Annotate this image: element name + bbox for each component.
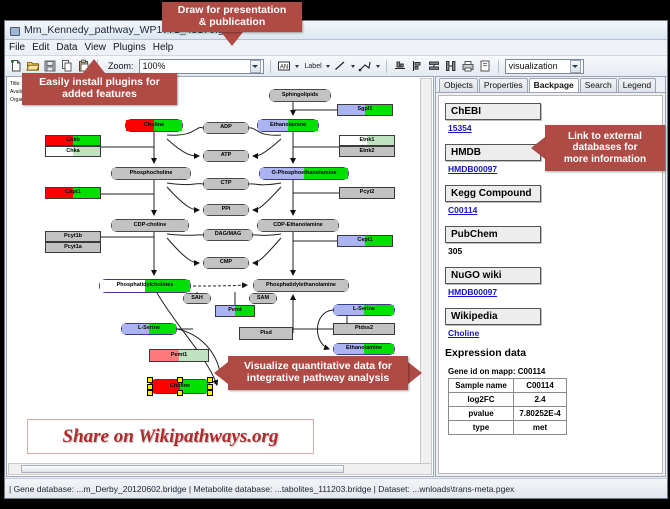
- screenshot-root: Mm_Kennedy_pathway_WP1771_45176.gpml Fil…: [0, 0, 670, 509]
- status-text: | Gene database: ...m_Derby_20120602.bri…: [9, 484, 514, 494]
- metabolite-node-ppi[interactable]: PPi: [203, 204, 249, 216]
- zoom-value: 100%: [143, 61, 166, 71]
- menu-item-edit[interactable]: Edit: [32, 42, 49, 53]
- gene-node-sgpl1[interactable]: Sgpl1: [337, 104, 393, 116]
- pathvisio-app-icon: [9, 25, 20, 36]
- node-label: Phosphatidylethanolamine: [266, 283, 336, 289]
- callout-draw-line2: & publication: [199, 17, 266, 29]
- tab-legend[interactable]: Legend: [618, 78, 656, 92]
- callout-draw-arrow-down: [221, 32, 243, 46]
- tab-objects[interactable]: Objects: [439, 78, 478, 92]
- save-icon[interactable]: [43, 59, 57, 73]
- table-row: pvalue 7.80252E-4: [449, 407, 567, 421]
- menu-item-view[interactable]: View: [84, 42, 106, 53]
- visualization-chevron-down-icon[interactable]: [570, 60, 581, 73]
- chevron-down-icon[interactable]: [250, 60, 261, 73]
- callout-visualize-line2: integrative pathway analysis: [247, 373, 389, 385]
- metabolite-node-cdp-choline[interactable]: CDP-choline: [111, 219, 189, 232]
- node-label: CDP-Ethanolamine: [273, 223, 323, 229]
- node-label: Pcyt1b: [64, 234, 82, 240]
- selection-handle[interactable]: [147, 384, 153, 390]
- node-label: Pcyt2: [360, 190, 375, 196]
- selection-handle[interactable]: [147, 377, 153, 383]
- interaction-chevron-down-icon[interactable]: [376, 65, 380, 68]
- expr-key-type: type: [449, 421, 514, 435]
- callout-links-line2: databases for: [572, 142, 637, 153]
- zoom-combo[interactable]: 100%: [139, 59, 264, 74]
- node-label: Choline: [144, 123, 164, 129]
- node-label: Phosphatidylcholines: [117, 283, 174, 289]
- db-header-kegg-compound: Kegg Compound: [445, 185, 541, 202]
- metabolite-node-phosphatidylcholines[interactable]: Phosphatidylcholines: [99, 279, 191, 293]
- node-label: Choline: [170, 384, 190, 390]
- selection-handle[interactable]: [207, 384, 213, 390]
- stack-horizontal-icon[interactable]: [444, 59, 458, 73]
- metabolite-node-adp[interactable]: ADP: [203, 122, 249, 134]
- node-label: Ethanolamine: [270, 123, 306, 129]
- expression-table: Sample name C00114 log2FC 2.4 pvalue 7.8…: [448, 378, 567, 435]
- menu-bar: File Edit Data View Plugins Help: [5, 40, 667, 56]
- toolbar-separator-2: [270, 60, 271, 73]
- align-top-icon[interactable]: [393, 59, 407, 73]
- callout-visualize-arrow-right: [408, 362, 422, 384]
- selection-handle[interactable]: [207, 390, 213, 396]
- share-banner-text: Share on Wikipathways.org: [63, 426, 279, 448]
- node-label: DAG/MAG: [215, 232, 242, 238]
- label-tool-label[interactable]: Label: [305, 63, 322, 70]
- menu-item-data[interactable]: Data: [56, 42, 77, 53]
- callout-links-line3: more information: [564, 154, 646, 165]
- gene-node-chkb[interactable]: Chkb: [45, 135, 101, 146]
- node-label: Pemt1: [171, 353, 188, 359]
- node-label: Ptdss2: [355, 326, 373, 332]
- label-chevron-down-icon[interactable]: [326, 65, 330, 68]
- visualization-combo[interactable]: visualization: [505, 59, 584, 74]
- gene-node-pemt[interactable]: Pemt: [215, 305, 255, 317]
- side-panel-tabs: Objects Properties Backpage Search Legen…: [436, 77, 665, 93]
- expr-value-log2fc: 2.4: [514, 393, 567, 407]
- gene-node-pcyt1a[interactable]: Pcyt1a: [45, 242, 101, 253]
- gene-id-on-mapp: Gene id on mapp: C00114: [448, 367, 656, 376]
- title-bar: Mm_Kennedy_pathway_WP1771_45176.gpml: [5, 21, 667, 40]
- metabolite-node-cdp-ethanolamine[interactable]: CDP-Ethanolamine: [257, 219, 339, 232]
- db-value-pubchem: 305: [448, 246, 656, 256]
- metabolite-node-atp[interactable]: ATP: [203, 150, 249, 162]
- expr-value-type: met: [514, 421, 567, 435]
- node-label: Etnk2: [360, 149, 375, 155]
- expr-value-sample-name: C00114: [514, 379, 567, 393]
- gene-node-etnk1[interactable]: Etnk1: [339, 135, 395, 146]
- selection-handle[interactable]: [147, 390, 153, 396]
- node-label: ATP: [221, 153, 232, 159]
- node-label: CDP-choline: [134, 223, 167, 229]
- node-label: Pisd: [260, 331, 272, 337]
- tab-properties[interactable]: Properties: [479, 78, 528, 92]
- gene-node-pcyt1b[interactable]: Pcyt1b: [45, 231, 101, 242]
- table-row: type met: [449, 421, 567, 435]
- metabolite-node-cmp[interactable]: CMP: [203, 257, 249, 269]
- node-label: SAM: [257, 296, 269, 302]
- metabolite-node-l-serine-left[interactable]: L-Serine: [121, 323, 177, 335]
- node-label: Chkb: [66, 138, 80, 144]
- gene-node-pcyt2[interactable]: Pcyt2: [339, 187, 395, 199]
- menu-item-plugins[interactable]: Plugins: [113, 42, 146, 53]
- svg-text:AN: AN: [279, 64, 287, 70]
- node-label: Etnk1: [360, 138, 375, 144]
- node-label: ADP: [220, 125, 232, 131]
- node-label: Pemt: [228, 308, 241, 314]
- metabolite-node-l-serine-right[interactable]: L-Serine: [333, 304, 395, 316]
- node-label: L-Serine: [353, 307, 375, 313]
- callout-links-line1: Link to external: [568, 131, 642, 142]
- db-header-chebi: ChEBI: [445, 103, 541, 120]
- callout-draw-for-presentation: Draw for presentation & publication: [162, 2, 302, 32]
- table-row: log2FC 2.4: [449, 393, 567, 407]
- node-label: CTP: [221, 181, 232, 187]
- metabolite-node-sah[interactable]: SAH: [183, 293, 211, 304]
- expr-key-log2fc: log2FC: [449, 393, 514, 407]
- page-setup-icon[interactable]: [478, 59, 492, 73]
- metabolite-node-choline-selected[interactable]: Choline: [149, 379, 211, 394]
- node-label: Chpt1: [65, 190, 81, 196]
- node-label: PPi: [222, 207, 231, 213]
- share-on-wikipathways-banner: Share on Wikipathways.org: [27, 419, 314, 454]
- expr-value-pvalue: 7.80252E-4: [514, 407, 567, 421]
- print-icon[interactable]: [461, 59, 475, 73]
- db-link-kegg-compound[interactable]: C00114: [448, 205, 656, 215]
- gene-node-ptdss2[interactable]: Ptdss2: [333, 323, 395, 335]
- datanode-icon[interactable]: AN: [277, 59, 291, 73]
- node-label: Sgpl1: [358, 107, 373, 113]
- metabolite-node-phosphatidylethanolamine[interactable]: Phosphatidylethanolamine: [253, 279, 349, 292]
- db-link-wikipedia[interactable]: Choline: [448, 328, 656, 338]
- toolbar-separator-3: [386, 60, 387, 73]
- node-label: Pcyt1a: [64, 245, 82, 251]
- menu-item-file[interactable]: File: [9, 42, 25, 53]
- db-header-hmdb: HMDB: [445, 144, 541, 161]
- metabolite-node-choline-top[interactable]: Choline: [125, 119, 183, 132]
- node-label: L-Serine: [138, 326, 160, 332]
- gene-node-chka[interactable]: Chka: [45, 146, 101, 157]
- tab-search[interactable]: Search: [580, 78, 617, 92]
- node-label: CMP: [220, 260, 232, 266]
- gene-node-pisd[interactable]: Pisd: [239, 327, 293, 340]
- expression-data-heading: Expression data: [445, 347, 656, 359]
- pathway-drawing: Title: Availa Organ: [7, 77, 433, 477]
- gene-node-cept1[interactable]: Cept1: [337, 235, 393, 247]
- align-left-icon[interactable]: [410, 59, 424, 73]
- node-label: O-Phosphoethanolamine: [271, 171, 336, 177]
- datanode-chevron-down-icon[interactable]: [295, 65, 299, 68]
- metabolite-node-sam[interactable]: SAM: [249, 293, 277, 304]
- interaction-tool-icon[interactable]: [358, 59, 372, 73]
- callout-link-external-databases: Link to external databases for more info…: [545, 125, 665, 171]
- db-header-nugo-wiki: NuGO wiki: [445, 267, 541, 284]
- node-label: Phosphocholine: [130, 171, 173, 177]
- gene-node-pemt1[interactable]: Pemt1: [149, 349, 209, 362]
- table-row: Sample name C00114: [449, 379, 567, 393]
- selection-handle[interactable]: [207, 377, 213, 383]
- toolbar-separator-4: [498, 60, 499, 73]
- line-chevron-down-icon[interactable]: [351, 65, 355, 68]
- stack-vertical-icon[interactable]: [427, 59, 441, 73]
- copy-icon[interactable]: [60, 59, 74, 73]
- zoom-label: Zoom:: [108, 61, 134, 71]
- metabolite-node-o-phosphoethanolamine[interactable]: O-Phosphoethanolamine: [259, 167, 349, 180]
- node-label: SAH: [191, 296, 203, 302]
- expr-key-pvalue: pvalue: [449, 407, 514, 421]
- db-link-nugo-wiki[interactable]: HMDB00097: [448, 287, 656, 297]
- new-file-icon[interactable]: [9, 59, 23, 73]
- node-label: Sphingolipids: [282, 93, 318, 99]
- callout-links-arrow-left: [531, 137, 545, 159]
- callout-plugins-arrow-up: [83, 59, 105, 73]
- db-header-pubchem: PubChem: [445, 226, 541, 243]
- metabolite-node-dagmag[interactable]: DAG/MAG: [203, 229, 253, 241]
- selection-handle[interactable]: [177, 390, 183, 396]
- callout-plugins-line2: added features: [62, 89, 137, 101]
- metabolite-node-ctp[interactable]: CTP: [203, 178, 249, 190]
- metabolite-node-ethanolamine-bottom[interactable]: Ethanolamine: [333, 343, 395, 355]
- selection-handle[interactable]: [177, 377, 183, 383]
- callout-easily-install-plugins: Easily install plugins for added feature…: [22, 73, 177, 105]
- metabolite-node-phosphocholine[interactable]: Phosphocholine: [111, 167, 191, 180]
- metabolite-node-ethanolamine-top[interactable]: Ethanolamine: [257, 119, 319, 132]
- callout-visualize-arrow-left: [214, 362, 228, 384]
- line-tool-icon[interactable]: [333, 59, 347, 73]
- pathway-canvas[interactable]: Title: Availa Organ: [6, 76, 434, 477]
- db-header-wikipedia: Wikipedia: [445, 308, 541, 325]
- node-label: Chka: [66, 149, 79, 155]
- callout-visualize-quantitative-data: Visualize quantitative data for integrat…: [228, 356, 408, 390]
- node-label: Ethanolamine: [346, 346, 382, 352]
- gene-node-etnk2[interactable]: Etnk2: [339, 146, 395, 157]
- expr-key-sample-name: Sample name: [449, 379, 514, 393]
- menu-item-help[interactable]: Help: [153, 42, 174, 53]
- metabolite-node-sphingolipids[interactable]: Sphingolipids: [269, 89, 331, 102]
- visualization-value: visualization: [509, 61, 558, 71]
- tab-backpage[interactable]: Backpage: [529, 78, 579, 92]
- node-label: Cept1: [357, 238, 372, 244]
- status-bar: | Gene database: ...m_Derby_20120602.bri…: [5, 478, 667, 498]
- open-folder-icon[interactable]: [26, 59, 40, 73]
- gene-node-chpt1[interactable]: Chpt1: [45, 187, 101, 199]
